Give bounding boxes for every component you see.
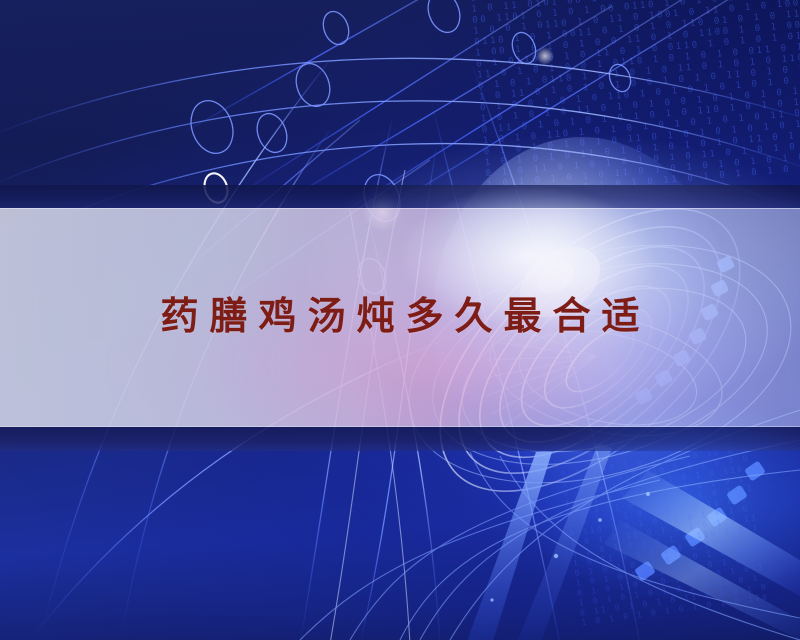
lower-dark-strip bbox=[0, 427, 800, 451]
title-container: 药膳鸡汤炖多久最合适 bbox=[0, 286, 800, 346]
banner-image: 0 1001 0 1 00 110 0 1 01100 0 1 0 1101 0… bbox=[0, 0, 800, 640]
binary-code-field-top: 0 1001 0 1 00 110 0 1 01100 0 1 0 1101 0… bbox=[470, 0, 800, 208]
page-title: 药膳鸡汤炖多久最合适 bbox=[149, 297, 650, 335]
upper-dark-strip bbox=[0, 185, 800, 208]
binary-code-field-bottom: 0 1 0110 1 0 1 0 1 0 11 0 1 1 0 1 0 1 0 … bbox=[560, 434, 800, 639]
